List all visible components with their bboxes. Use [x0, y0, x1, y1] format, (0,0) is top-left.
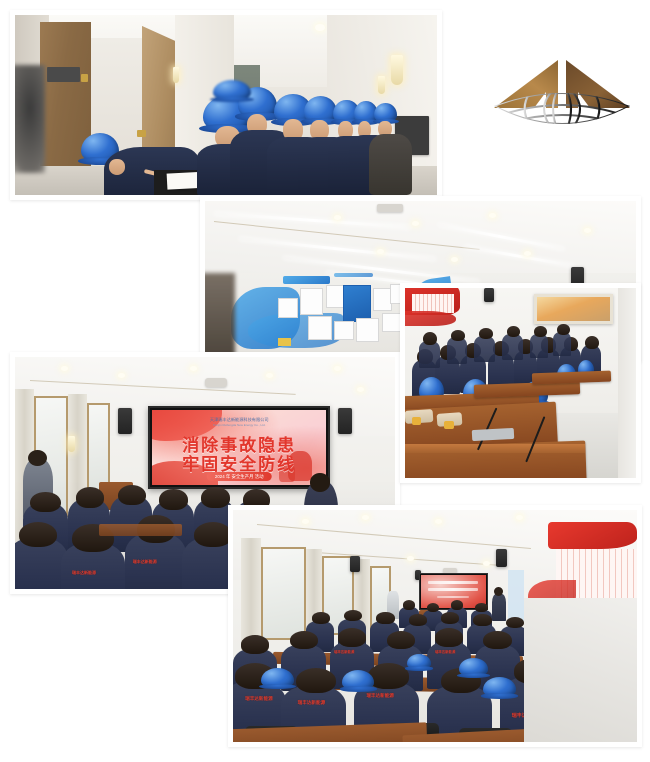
uniform-back-text: 瑞丰达新能源 [245, 696, 273, 702]
collage-canvas: 天津瑞丰达新能源科技有限公司 Tianjin Ruifengda New Ene… [0, 0, 650, 762]
worker-queue-7 [374, 103, 408, 195]
uniform-back-text: 瑞丰达新能源 [435, 649, 455, 654]
wall-speaker-right [496, 549, 507, 567]
uniform-back-text: 瑞丰达新能源 [334, 649, 354, 654]
logo-globe [494, 84, 630, 140]
wall-speaker-left [350, 556, 360, 572]
blue-safety-helmet [483, 677, 515, 698]
wall-speaker-left [118, 408, 132, 434]
uniform-back-text: 瑞丰达新能源 [133, 559, 157, 565]
uniform-back-text: 瑞丰达新能源 [366, 693, 394, 699]
blue-safety-helmet [459, 658, 487, 677]
uniform-back-text: 瑞丰达新能源 [72, 570, 96, 576]
mountain-globe-logo [488, 50, 636, 150]
photo-corridor-sign-in [10, 10, 442, 200]
screen-company-line-en: Tianjin Ruifengda New Energy Co., Ltd. [152, 423, 326, 427]
wall-painting [534, 294, 613, 324]
screen-text-line-2 [428, 588, 479, 591]
culture-wall-logo-card [343, 285, 371, 321]
party-banner-wall [548, 522, 637, 550]
door-plaque [47, 67, 81, 81]
ceiling-projector [377, 204, 403, 212]
blue-safety-helmet [342, 670, 374, 691]
wall-speaker-right [338, 408, 352, 434]
ceiling-projector [205, 378, 227, 387]
blue-safety-helmet [261, 668, 293, 689]
photo-training-hall-wide: 瑞丰达新能源 瑞丰达新能源 瑞丰达新能源 瑞丰达新能源 瑞丰达新能源 瑞丰达新能… [228, 505, 642, 747]
photo-audience-at-desks [400, 283, 641, 483]
screen-text-line-1 [428, 581, 479, 584]
uniform-back-text: 瑞丰达新能源 [298, 700, 326, 706]
blue-safety-helmet [407, 654, 431, 670]
